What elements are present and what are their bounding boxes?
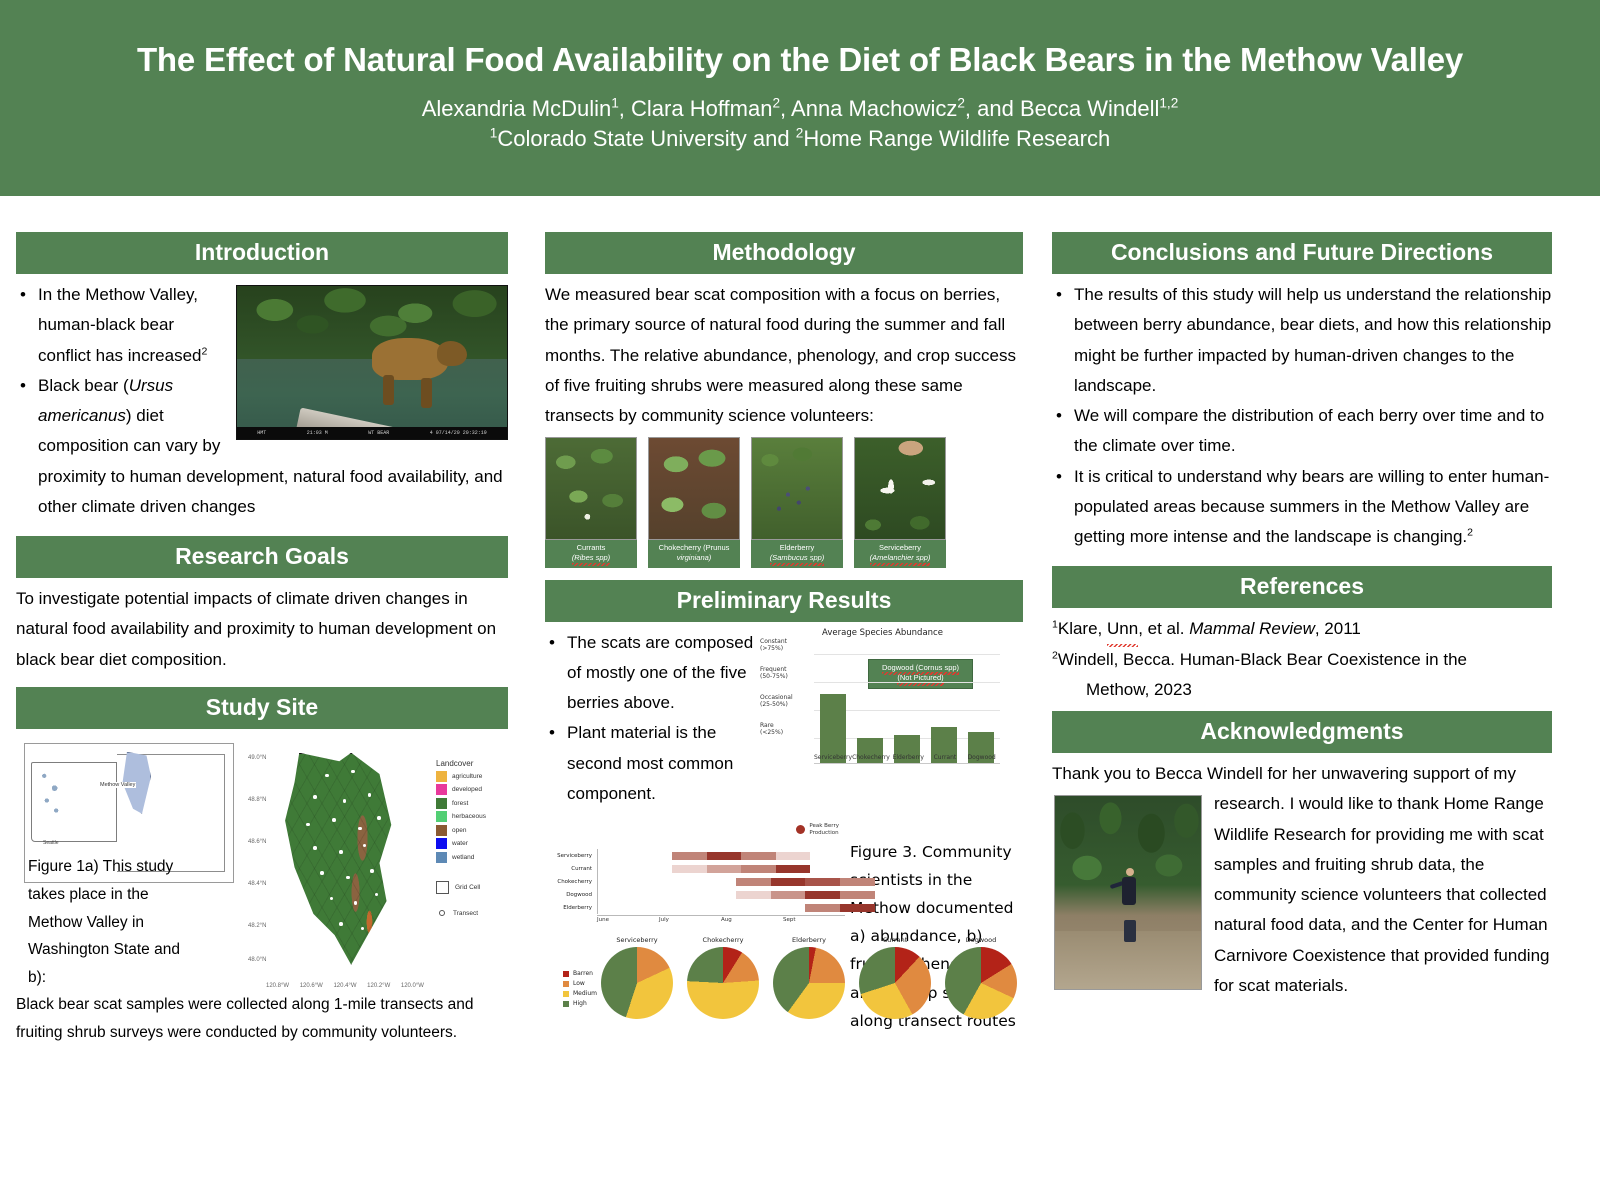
column-middle: Methodology We measured bear scat compos… [545, 232, 1023, 1061]
section-heading-study-site: Study Site [16, 687, 508, 729]
photo-person-head [1126, 868, 1134, 876]
methodology-body: We measured bear scat composition with a… [545, 280, 1023, 431]
shrub-card-serviceberry: Serviceberry (Amelanchier spp) [854, 437, 946, 567]
section-heading-acknowledgments: Acknowledgments [1052, 711, 1552, 753]
field-researcher-photo [1054, 795, 1202, 990]
phenology-rows: Serviceberry Currant [545, 849, 845, 914]
list-item: The scats are composed of mostly one of … [545, 628, 770, 719]
pie-title: Elderberry [769, 936, 849, 944]
legend-item: forest [436, 798, 514, 809]
phenology-segment [672, 865, 707, 873]
map-y-tick: 48.0°N [248, 957, 266, 963]
chart-fruiting-phenology: Peak Berry Production Serviceberry Curra… [545, 823, 845, 928]
currant-photo [545, 437, 637, 540]
reference-list: 1Klare, Unn, et al. Mammal Review, 2011 … [1052, 614, 1552, 705]
legend-label: agriculture [452, 773, 482, 780]
map-x-tick: 120.6°W [300, 983, 323, 989]
pie-graphic [601, 947, 673, 1019]
inset-methow-valley-label: Methow Valley [99, 782, 136, 788]
legend-swatch-grid-cell [436, 881, 449, 894]
chart-average-species-abundance: Average Species Abundance Constant(>75%)… [760, 628, 1005, 776]
legend-label: water [452, 840, 468, 847]
x-tick-label: Elderberry [890, 754, 927, 761]
poster-root: The Effect of Natural Food Availability … [0, 0, 1600, 1200]
inset-puget-sound [39, 768, 65, 824]
research-goals-body: To investigate potential impacts of clim… [16, 584, 508, 675]
chart-title: Average Species Abundance [760, 628, 1005, 638]
phenology-month-labels: June July Aug Sept [597, 917, 845, 923]
legend-swatch-high [563, 1001, 569, 1007]
x-tick-label: Currant [927, 754, 964, 761]
phenology-segment-peak [776, 865, 811, 873]
reference-item: 1Klare, Unn, et al. Mammal Review, 2011 [1052, 614, 1552, 644]
month-label: Sept [783, 917, 845, 923]
pie-chart-row: Serviceberry Chokecherry Elderberry Curr… [597, 936, 1021, 1019]
list-item: We will compare the distribution of each… [1052, 401, 1552, 462]
chart-crop-success-pies: Barren Low Medium High Serviceberry [545, 936, 1023, 1061]
chart-x-tick-labels: Serviceberry Chokecherry Elderberry Curr… [814, 754, 1000, 761]
legend-swatch-barren [563, 971, 569, 977]
legend-label: High [573, 1000, 587, 1007]
figure-1-caption-part1: Figure 1a) This study takes place in the… [28, 853, 188, 992]
serviceberry-photo [854, 437, 946, 540]
map-y-tick: 48.2°N [248, 923, 266, 929]
legend-swatch-agriculture [436, 771, 447, 782]
pie-graphic [773, 947, 845, 1019]
shrub-latin-name: virginiana) [677, 553, 712, 562]
list-item: In the Methow Valley, human-black bear c… [16, 280, 508, 371]
legend-item-transect: Transect [436, 910, 514, 917]
introduction-body: HMT21:03 MWT BEAR4 07/14/20 20:32:19 In … [16, 280, 508, 522]
legend-label: developed [452, 786, 482, 793]
inset-seattle-label: Seattle [43, 840, 59, 846]
map-x-tick: 120.0°W [401, 983, 424, 989]
author-list: Alexandria McDulin1, Clara Hoffman2, Ann… [422, 94, 1179, 124]
bar-serviceberry [820, 694, 846, 763]
phenology-segment-peak [805, 891, 840, 899]
phenology-segment [736, 891, 771, 899]
section-heading-conclusions: Conclusions and Future Directions [1052, 232, 1552, 274]
phenology-x-axis [597, 915, 845, 916]
phenology-row-label: Serviceberry [545, 853, 597, 859]
shrub-common-name: Serviceberry [879, 543, 921, 552]
y-tick-label: Constant(>75%) [760, 638, 787, 653]
list-item: It is critical to understand why bears a… [1052, 462, 1552, 553]
pie-chart-chokecherry: Chokecherry [683, 936, 763, 1019]
phenology-segment [840, 878, 875, 886]
x-tick-label: Serviceberry [814, 754, 852, 761]
shrub-caption: Serviceberry (Amelanchier spp) [854, 540, 946, 567]
poster-header: The Effect of Natural Food Availability … [0, 0, 1600, 196]
map-y-tick: 48.4°N [248, 881, 266, 887]
shrub-common-name: Elderberry [780, 543, 815, 552]
pie-legend: Barren Low Medium High [563, 970, 597, 1010]
shrub-latin-name: (Ribes spp) [572, 553, 610, 563]
y-tick-label: Occasional(25-50%) [760, 694, 793, 709]
y-tick-label: Frequent(50-75%) [760, 666, 788, 681]
legend-swatch-wetland [436, 852, 447, 863]
phenology-segment [776, 852, 811, 860]
phenology-row: Currant [545, 862, 845, 875]
legend-item: wetland [436, 852, 514, 863]
map-x-tick: 120.2°W [367, 983, 390, 989]
column-right: Conclusions and Future Directions The re… [1052, 232, 1552, 1001]
map-y-tick: 48.8°N [248, 797, 266, 803]
legend-item: developed [436, 784, 514, 795]
list-item: The results of this study will help us u… [1052, 280, 1552, 401]
shrub-caption: Elderberry (Sambucus spp) [751, 540, 843, 567]
legend-line2: Production [809, 830, 838, 836]
phenology-row: Elderberry [545, 901, 845, 914]
list-item: Black bear (Ursus americanus) diet compo… [16, 371, 508, 522]
phenology-row: Dogwood [545, 888, 845, 901]
shrub-common-name: Chokecherry (Prunus [659, 543, 730, 552]
legend-label: Transect [453, 910, 478, 917]
legend-swatch-low [563, 981, 569, 987]
phenology-segment [741, 865, 776, 873]
pie-chart-serviceberry: Serviceberry [597, 936, 677, 1019]
legend-label: herbaceous [452, 813, 486, 820]
phenology-segment [805, 878, 840, 886]
page-title: The Effect of Natural Food Availability … [117, 42, 1483, 78]
legend-swatch-transect [439, 910, 445, 916]
phenology-segment-peak [771, 878, 806, 886]
conclusions-bullets: The results of this study will help us u… [1052, 280, 1552, 552]
month-label: July [659, 917, 721, 923]
x-tick-label: Chokecherry [852, 754, 890, 761]
phenology-segment [741, 852, 776, 860]
affiliation-list: 1Colorado State University and 2Home Ran… [490, 124, 1110, 154]
phenology-track [597, 901, 845, 914]
x-tick-label: Dogwood [963, 754, 1000, 761]
shrub-common-name: Currants [577, 543, 606, 552]
pie-graphic [859, 947, 931, 1019]
photo-person-legs [1124, 920, 1136, 942]
phenology-segment [805, 904, 840, 912]
legend-label: Low [573, 980, 585, 987]
shrub-caption: Currants (Ribes spp) [545, 540, 637, 567]
phenology-row-label: Elderberry [545, 905, 597, 911]
legend-label: Medium [573, 990, 597, 997]
legend-item: water [436, 838, 514, 849]
section-heading-research-goals: Research Goals [16, 536, 508, 578]
shrub-caption: Chokecherry (Prunus virginiana) [648, 540, 740, 567]
section-heading-introduction: Introduction [16, 232, 508, 274]
phenology-legend: Peak Berry Production [796, 823, 839, 836]
phenology-track [597, 875, 845, 888]
landcover-legend-title: Landcover [436, 759, 514, 768]
reference-item: 2Windell, Becca. Human-Black Bear Coexis… [1052, 645, 1552, 675]
map-y-tick: 49.0°N [248, 755, 266, 761]
map-x-ticks: 120.8°W 120.6°W 120.4°W 120.2°W 120.0°W [266, 983, 424, 989]
legend-swatch-forest [436, 798, 447, 809]
legend-label: Grid Cell [455, 884, 480, 891]
bar-series [814, 651, 1000, 763]
pie-title: Currant [855, 936, 935, 944]
month-label: Aug [721, 917, 783, 923]
phenology-segment [672, 852, 707, 860]
acknowledgments-body: Thank you to Becca Windell for her unwav… [1052, 759, 1552, 1001]
map-x-tick: 120.8°W [266, 983, 289, 989]
landcover-legend: Landcover agriculture developed forest h… [436, 759, 514, 917]
study-site-figure: Methow Valley Seattle 49.0°N 48.8°N 48.6… [16, 735, 508, 995]
y-tick-label: Rare(<25%) [760, 722, 783, 737]
chart-plot-area [814, 652, 1000, 764]
legend-label: wetland [452, 854, 474, 861]
phenology-segment-peak [840, 904, 875, 912]
pie-chart-currant: Currant [855, 936, 935, 1019]
legend-label: forest [452, 800, 468, 807]
legend-line1: Peak Berry [809, 823, 839, 829]
peak-berry-dot-icon [796, 825, 805, 834]
introduction-bullets: In the Methow Valley, human-black bear c… [16, 280, 508, 522]
legend-swatch-herbaceous [436, 811, 447, 822]
column-left: Introduction HMT21:03 MWT BEAR4 07/14/20… [16, 232, 508, 1047]
map-transect-points [278, 753, 396, 965]
phenology-track [597, 849, 845, 862]
pie-title: Chokecherry [683, 936, 763, 944]
legend-swatch-developed [436, 784, 447, 795]
chart-y-tick-labels: Constant(>75%) Frequent(50-75%) Occasion… [760, 640, 812, 752]
phenology-track [597, 862, 845, 875]
pie-chart-dogwood: Dogwood [941, 936, 1021, 1019]
legend-item-grid-cell: Grid Cell [436, 881, 514, 894]
phenology-segment [736, 878, 771, 886]
legend-item: agriculture [436, 771, 514, 782]
elderberry-photo [751, 437, 843, 540]
section-heading-preliminary-results: Preliminary Results [545, 580, 1023, 622]
phenology-segment [771, 891, 806, 899]
legend-swatch-open [436, 825, 447, 836]
shrub-card-chokecherry: Chokecherry (Prunus virginiana) [648, 437, 740, 567]
phenology-segment [707, 865, 742, 873]
legend-item: herbaceous [436, 811, 514, 822]
phenology-segment-peak [707, 852, 742, 860]
phenology-row: Chokecherry [545, 875, 845, 888]
phenology-segment [840, 891, 875, 899]
map-x-tick: 120.4°W [333, 983, 356, 989]
photo-person-body [1122, 877, 1136, 905]
reference-item-continuation: Methow, 2023 [1052, 675, 1552, 705]
legend-item: Low [563, 980, 597, 987]
phenology-row: Serviceberry [545, 849, 845, 862]
legend-label: Barren [573, 970, 593, 977]
month-label: June [597, 917, 659, 923]
phenology-row-label: Currant [545, 866, 597, 872]
legend-item: Barren [563, 970, 597, 977]
preliminary-results-bullets: The scats are composed of mostly one of … [545, 628, 770, 810]
section-heading-references: References [1052, 566, 1552, 608]
figure-1-caption-part2: Black bear scat samples were collected a… [16, 991, 508, 1047]
map-y-tick: 48.6°N [248, 839, 266, 845]
phenology-row-label: Chokecherry [545, 879, 597, 885]
phenology-row-label: Dogwood [545, 892, 597, 898]
pie-title: Serviceberry [597, 936, 677, 944]
legend-swatch-water [436, 838, 447, 849]
pie-chart-elderberry: Elderberry [769, 936, 849, 1019]
reference-text: Windell, Becca. Human-Black Bear Coexist… [1058, 650, 1467, 669]
pie-graphic [945, 947, 1017, 1019]
chokecherry-photo [648, 437, 740, 540]
legend-item: open [436, 825, 514, 836]
shrub-card-elderberry: Elderberry (Sambucus spp) [751, 437, 843, 567]
shrub-latin-name: (Sambucus spp) [770, 553, 825, 563]
methow-valley-landcover-map: 49.0°N 48.8°N 48.6°N 48.4°N 48.2°N 48.0°… [254, 739, 424, 991]
list-item: Plant material is the second most common… [545, 718, 770, 809]
legend-item: Medium [563, 990, 597, 997]
phenology-track [597, 888, 845, 901]
pie-title: Dogwood [941, 936, 1021, 944]
phenology-legend-label: Peak Berry Production [809, 823, 839, 836]
pie-graphic [687, 947, 759, 1019]
section-heading-methodology: Methodology [545, 232, 1023, 274]
legend-item: High [563, 1000, 597, 1007]
legend-swatch-medium [563, 991, 569, 997]
legend-label: open [452, 827, 466, 834]
shrub-latin-name: (Amelanchier spp) [870, 553, 931, 563]
shrub-card-currants: Currants (Ribes spp) [545, 437, 637, 567]
fruiting-shrub-photo-strip: Currants (Ribes spp) Chokecherry (Prunus… [545, 437, 1023, 567]
